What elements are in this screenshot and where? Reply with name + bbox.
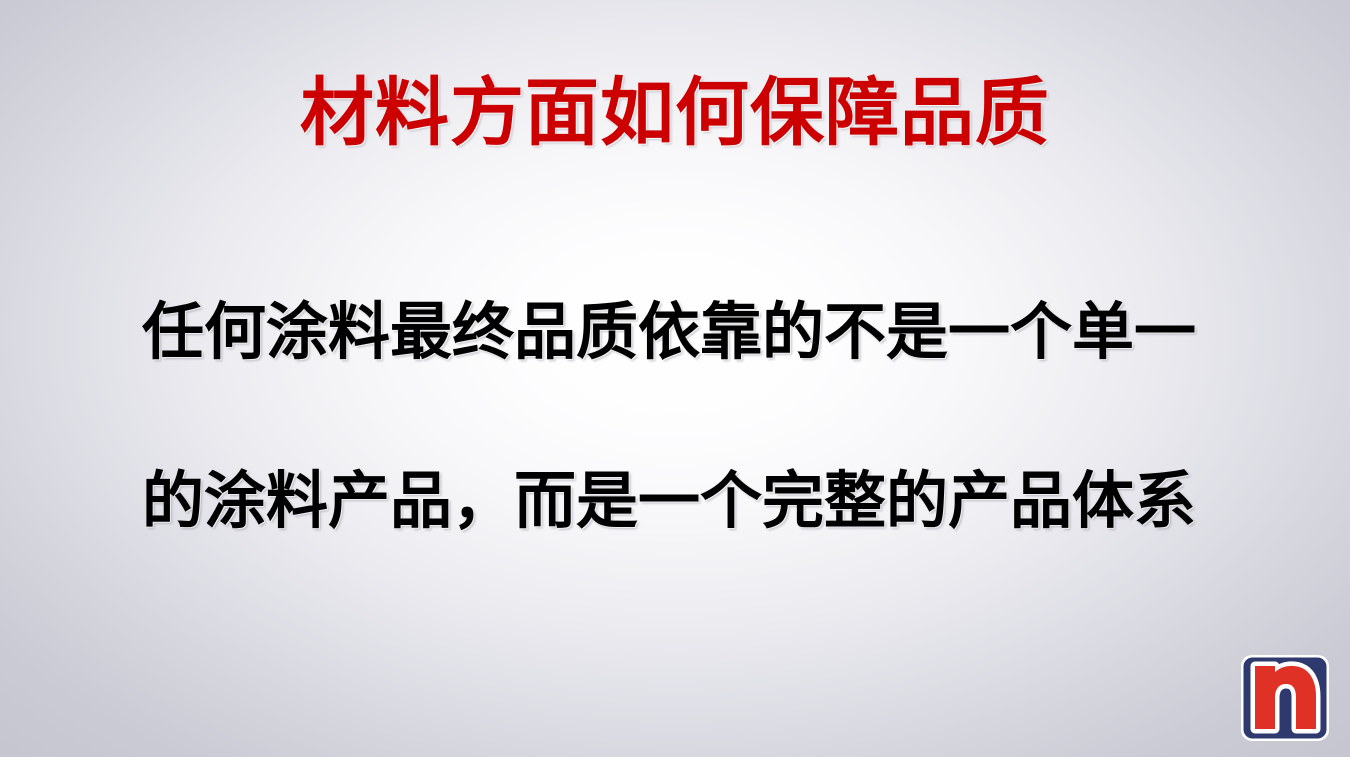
slide-body-block: 任何涂料最终品质依靠的不是一个单一 的涂料产品，而是一个完整的产品体系 [142, 300, 1222, 534]
brand-logo [1239, 653, 1331, 743]
page-title: 材料方面如何保障品质 [300, 72, 1050, 155]
slide-canvas: 材料方面如何保障品质 任何涂料最终品质依靠的不是一个单一 的涂料产品，而是一个完… [0, 0, 1350, 757]
slide-title-block: 材料方面如何保障品质 [0, 72, 1350, 155]
brand-logo-n-icon [1239, 653, 1331, 743]
body-line-2: 的涂料产品，而是一个完整的产品体系 [142, 469, 1222, 534]
body-line-1: 任何涂料最终品质依靠的不是一个单一 [142, 300, 1222, 365]
